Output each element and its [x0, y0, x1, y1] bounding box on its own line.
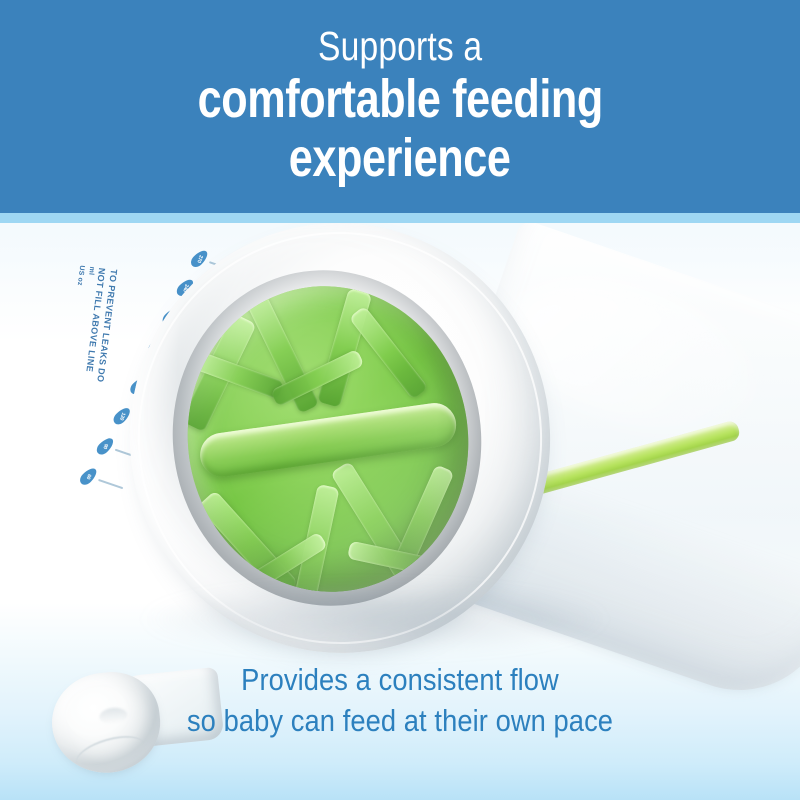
headline-line-1: Supports a — [318, 26, 482, 67]
volume-value: 120 — [118, 411, 126, 420]
banner-accent-stripe — [0, 213, 800, 223]
caption-line-2: so baby can feed at their own pace — [48, 701, 752, 742]
headline-banner: Supports a comfortable feeding experienc… — [0, 0, 800, 213]
volume-drop-marker: 60 — [77, 465, 99, 487]
caption-line-1: Provides a consistent flow — [48, 660, 752, 701]
headline-line-3: experience — [289, 130, 511, 187]
product-feature-image: Supports a comfortable feeding experienc… — [0, 0, 800, 800]
volume-value: 90 — [101, 443, 108, 450]
volume-drop-marker: 90 — [94, 435, 116, 457]
tick-line — [98, 479, 123, 489]
caption-text: Provides a consistent flow so baby can f… — [0, 660, 800, 742]
headline-line-2: comfortable feeding — [197, 71, 602, 128]
volume-drop-marker: 270 — [188, 248, 210, 270]
bottle-assembly: 270 240 210 180 150 — [0, 223, 800, 648]
volume-value: 270 — [195, 254, 203, 263]
volume-value: 60 — [85, 473, 92, 480]
assembly-contact-shadow — [140, 584, 610, 654]
fill-line-warning: TO PREVENT LEAKS DO NOT FILL ABOVE LINE … — [63, 265, 120, 383]
